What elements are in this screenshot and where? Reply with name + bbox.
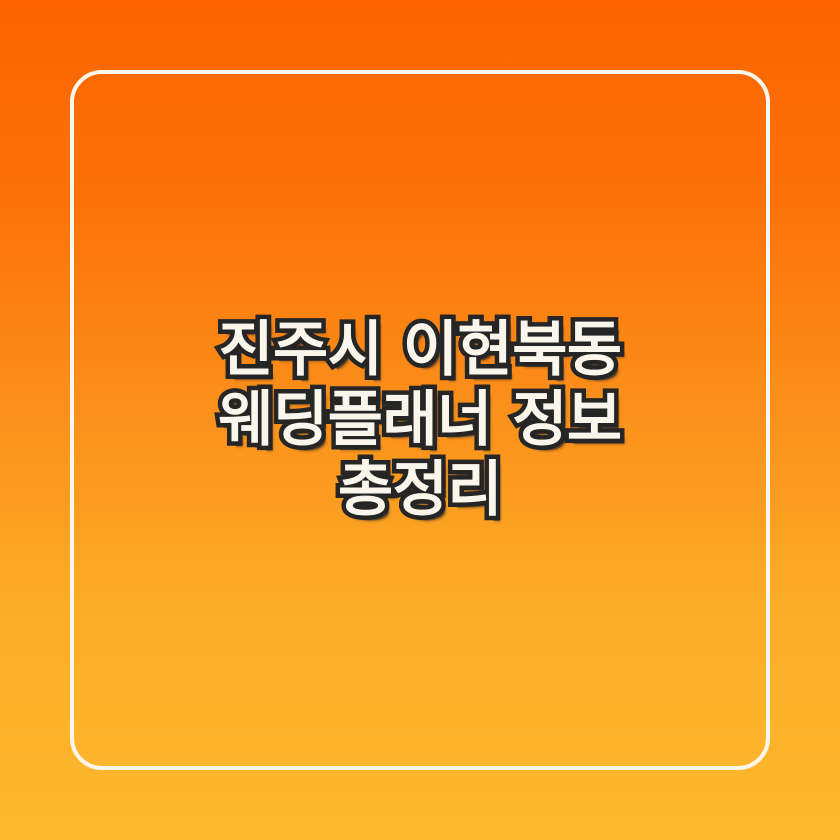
- title-block: 진주시 이현북동 웨딩플래너 정보 총정리: [0, 0, 840, 840]
- title-line-1: 진주시 이현북동: [218, 315, 621, 385]
- title-line-2: 웨딩플래너 정보: [218, 385, 621, 455]
- title-line-3: 총정리: [338, 455, 502, 525]
- thumbnail-card: 진주시 이현북동 웨딩플래너 정보 총정리: [0, 0, 840, 840]
